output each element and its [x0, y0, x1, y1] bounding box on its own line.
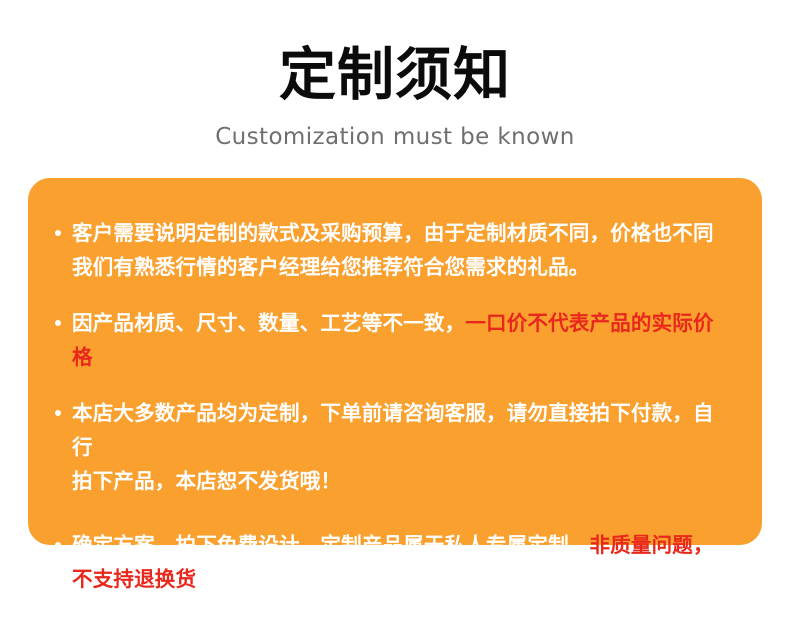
notice-panel: 客户需要说明定制的款式及采购预算，由于定制材质不同，价格也不同我们有熟悉行情的客… [28, 178, 762, 545]
bullet-dot-icon [55, 542, 61, 548]
notice-item: 本店大多数产品均为定制，下单前请咨询客服，请勿直接拍下付款，自行拍下产品，本店恕… [54, 396, 732, 498]
notice-text: 我们有熟悉行情的客户经理给您推荐符合您需求的礼品。 [72, 255, 590, 279]
notice-line: 不支持退换货，请在制作中跟客服充分沟通，发货前确认好产品实物图。 [72, 562, 732, 630]
bullet-dot-icon [55, 320, 61, 326]
bullet-dot-icon [55, 230, 61, 236]
customization-notice-page: 定制须知 Customization must be known 客户需要说明定… [0, 0, 790, 596]
notice-list: 客户需要说明定制的款式及采购预算，由于定制材质不同，价格也不同我们有熟悉行情的客… [54, 216, 732, 630]
notice-text: 客户需要说明定制的款式及采购预算，由于定制材质不同，价格也不同 [72, 221, 714, 245]
notice-item: 客户需要说明定制的款式及采购预算，由于定制材质不同，价格也不同我们有熟悉行情的客… [54, 216, 732, 284]
notice-line: 拍下产品，本店恕不发货哦！ [72, 464, 732, 498]
notice-text: 拍下产品，本店恕不发货哦！ [72, 469, 341, 493]
notice-highlight-text: 非质量问题， [590, 533, 714, 557]
bullet-dot-icon [55, 410, 61, 416]
notice-line: 确定方案，拍下免费设计。定制产品属于私人专属定制，非质量问题， [72, 528, 732, 562]
notice-line: 本店大多数产品均为定制，下单前请咨询客服，请勿直接拍下付款，自行 [72, 396, 732, 464]
notice-line: 因产品材质、尺寸、数量、工艺等不一致，一口价不代表产品的实际价格 [72, 306, 732, 374]
notice-highlight-text: 不支持退换货 [72, 567, 196, 591]
notice-line: 我们有熟悉行情的客户经理给您推荐符合您需求的礼品。 [72, 250, 732, 284]
notice-text: 因产品材质、尺寸、数量、工艺等不一致， [72, 311, 465, 335]
page-title: 定制须知 [0, 44, 790, 106]
notice-item: 确定方案，拍下免费设计。定制产品属于私人专属定制，非质量问题，不支持退换货，请在… [54, 528, 732, 630]
page-subtitle: Customization must be known [0, 122, 790, 152]
notice-text: 本店大多数产品均为定制，下单前请咨询客服，请勿直接拍下付款，自行 [72, 401, 714, 459]
notice-line: 客户需要说明定制的款式及采购预算，由于定制材质不同，价格也不同 [72, 216, 732, 250]
notice-text: 确定方案，拍下免费设计。定制产品属于私人专属定制， [72, 533, 590, 557]
notice-item: 因产品材质、尺寸、数量、工艺等不一致，一口价不代表产品的实际价格 [54, 306, 732, 374]
